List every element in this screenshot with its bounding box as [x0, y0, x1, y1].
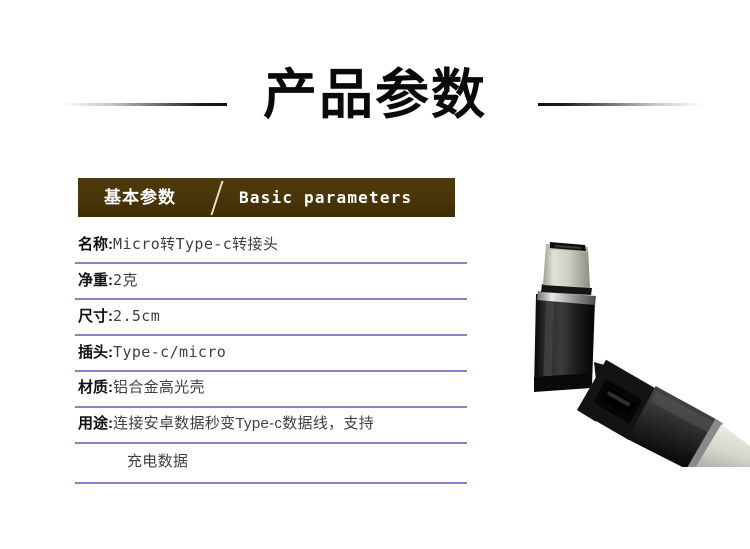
table-row-continuation: 充电数据 [75, 444, 467, 484]
section-header-bar: 基本参数 Basic parameters [78, 178, 455, 217]
spec-line: 名称:Micro转Type-c转接头 [78, 232, 278, 257]
spec-label: 尺寸 [78, 308, 108, 325]
page-title-block: 产品参数 [0, 62, 750, 132]
spec-label: 用途 [78, 415, 108, 432]
spec-label: 名称 [78, 236, 108, 253]
table-row: 材质:铝合金高光壳 [75, 372, 467, 408]
spec-label: 插头 [78, 344, 108, 361]
micro-to-typec-adapter-illustration [498, 222, 750, 467]
adapter-tilted [575, 353, 750, 467]
spec-value-continuation: 充电数据 [127, 450, 188, 474]
spec-line: 用途:连接安卓数据秒变Type-c数据线，支持 [78, 412, 374, 436]
spec-label: 净重 [78, 272, 108, 289]
table-row: 尺寸:2.5cm [75, 300, 467, 336]
slash-separator-icon [210, 181, 223, 215]
product-spec-page: 产品参数 基本参数 Basic parameters 名称:Micro转Type… [0, 0, 750, 549]
table-row: 净重:2克 [75, 264, 467, 300]
spec-value: 铝合金高光壳 [113, 379, 205, 396]
title-rule-right [538, 103, 703, 106]
spec-line: 插头:Type-c/micro [78, 340, 226, 365]
product-photo [498, 222, 750, 467]
spec-value: 2克 [113, 271, 138, 289]
spec-value: Type-c/micro [113, 343, 226, 361]
spec-line: 净重:2克 [78, 268, 138, 293]
section-title-en: Basic parameters [239, 178, 412, 217]
spec-value: 连接安卓数据秒变Type-c数据线，支持 [113, 415, 374, 432]
page-title: 产品参数 [0, 62, 750, 128]
spec-table: 名称:Micro转Type-c转接头 净重:2克 尺寸:2.5cm 插头:Typ… [75, 228, 467, 484]
spec-line: 材质:铝合金高光壳 [78, 376, 205, 400]
spec-value: 2.5cm [113, 307, 160, 325]
spec-label: 材质 [78, 379, 108, 396]
table-row: 名称:Micro转Type-c转接头 [75, 228, 467, 264]
spec-line: 尺寸:2.5cm [78, 304, 160, 329]
spec-value: Micro转Type-c转接头 [113, 235, 278, 253]
table-row: 插头:Type-c/micro [75, 336, 467, 372]
table-row: 用途:连接安卓数据秒变Type-c数据线，支持 [75, 408, 467, 444]
section-title-cn: 基本参数 [104, 178, 176, 217]
